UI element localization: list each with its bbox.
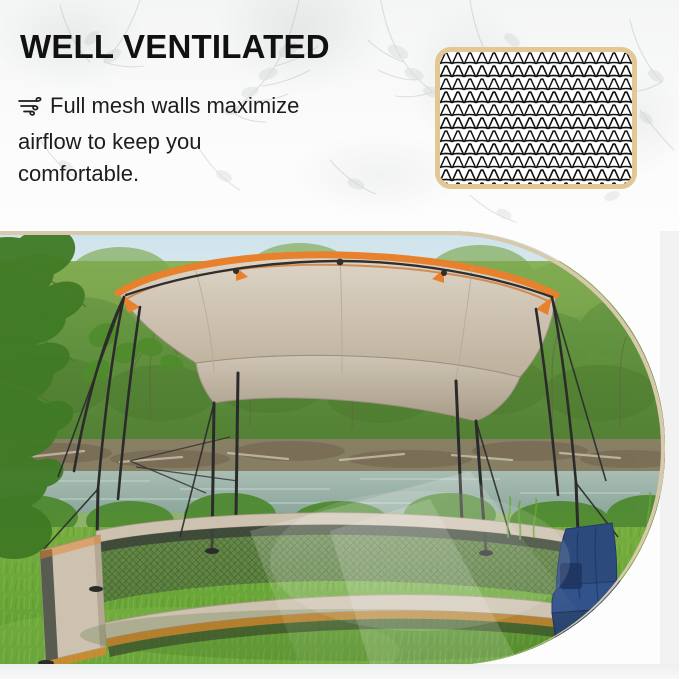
hero-photo [0,231,665,665]
product-feature-card: WELL VENTILATED Full mesh walls maximize… [0,0,679,679]
mesh-weave-pattern-icon [440,52,632,184]
hero-photo-image [0,231,665,665]
feature-description: Full mesh walls maximize airflow to keep… [18,90,390,190]
feature-line-1-text: Full mesh walls maximize [50,93,299,118]
feature-line-2: airflow to keep you [18,126,390,158]
feature-line-1: Full mesh walls maximize [18,90,390,126]
bottom-strip [0,664,679,679]
mesh-swatch-card [435,47,637,189]
feature-line-3: comfortable. [18,158,390,190]
page-title: WELL VENTILATED [20,27,330,67]
wind-airflow-icon [18,94,44,126]
